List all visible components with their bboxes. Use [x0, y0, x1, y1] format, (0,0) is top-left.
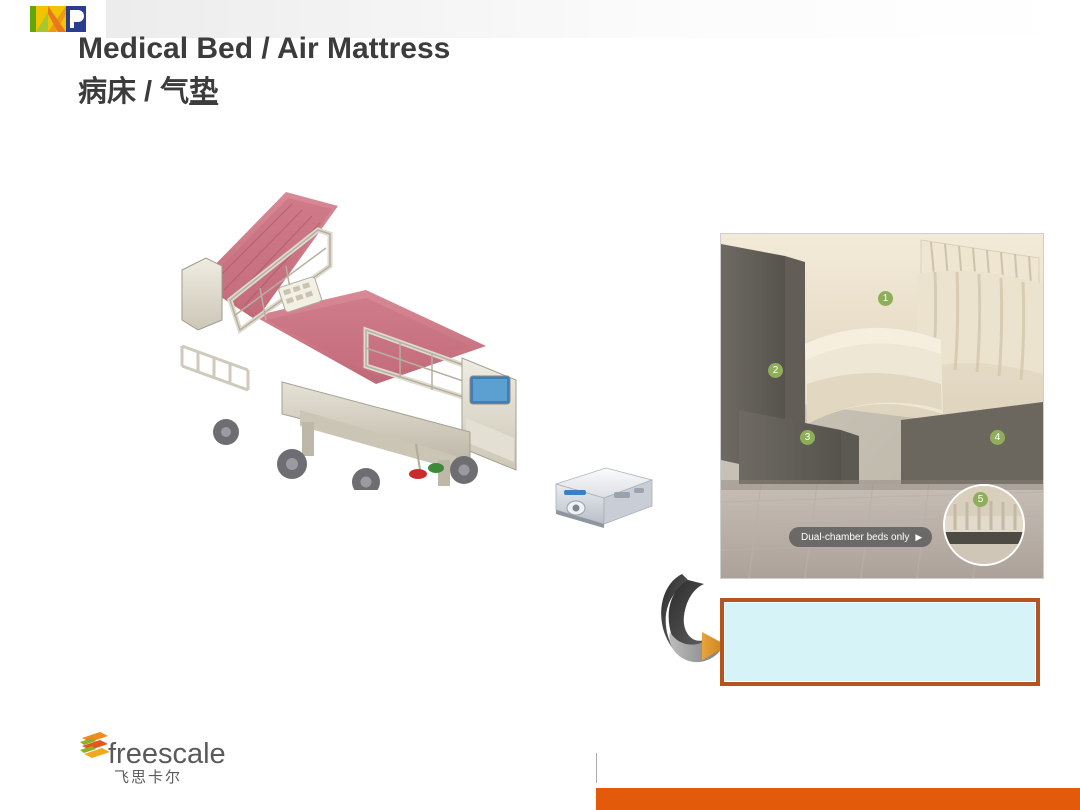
inset-detail-circle: 5: [943, 484, 1025, 566]
chip-arrow-icon: ▶: [915, 532, 922, 542]
swoosh-arrow-icon: [652, 570, 728, 670]
dual-chamber-label: Dual-chamber beds only: [801, 532, 909, 543]
callout-text-box: [720, 598, 1040, 686]
title-chinese-main: 病床 / 气: [78, 76, 189, 108]
air-pump-photo: [548, 462, 658, 534]
slide-title: Medical Bed / Air Mattress 病床 / 气垫: [78, 28, 938, 112]
title-english: Medical Bed / Air Mattress: [78, 28, 938, 70]
dual-chamber-chip: Dual-chamber beds only▶: [789, 527, 932, 547]
callout-5: 5: [973, 492, 988, 507]
footer-orange-bar: [596, 788, 1080, 810]
title-chinese: 病床 / 气垫: [78, 72, 938, 112]
footer-divider: [596, 753, 597, 783]
freescale-wordmark-cn: 飞思卡尔: [114, 766, 182, 787]
air-mattress-photo: 1 2 3 4 Dual-chamber beds only▶ 5: [720, 233, 1044, 579]
callout-3: 3: [800, 430, 815, 445]
callout-4: 4: [990, 430, 1005, 445]
hospital-bed-photo: [170, 170, 530, 490]
callout-text: [724, 602, 1036, 682]
title-chinese-underlined: 垫: [189, 76, 218, 108]
callout-1: 1: [878, 291, 893, 306]
footer-white-strip: [0, 788, 596, 810]
callout-2: 2: [768, 363, 783, 378]
